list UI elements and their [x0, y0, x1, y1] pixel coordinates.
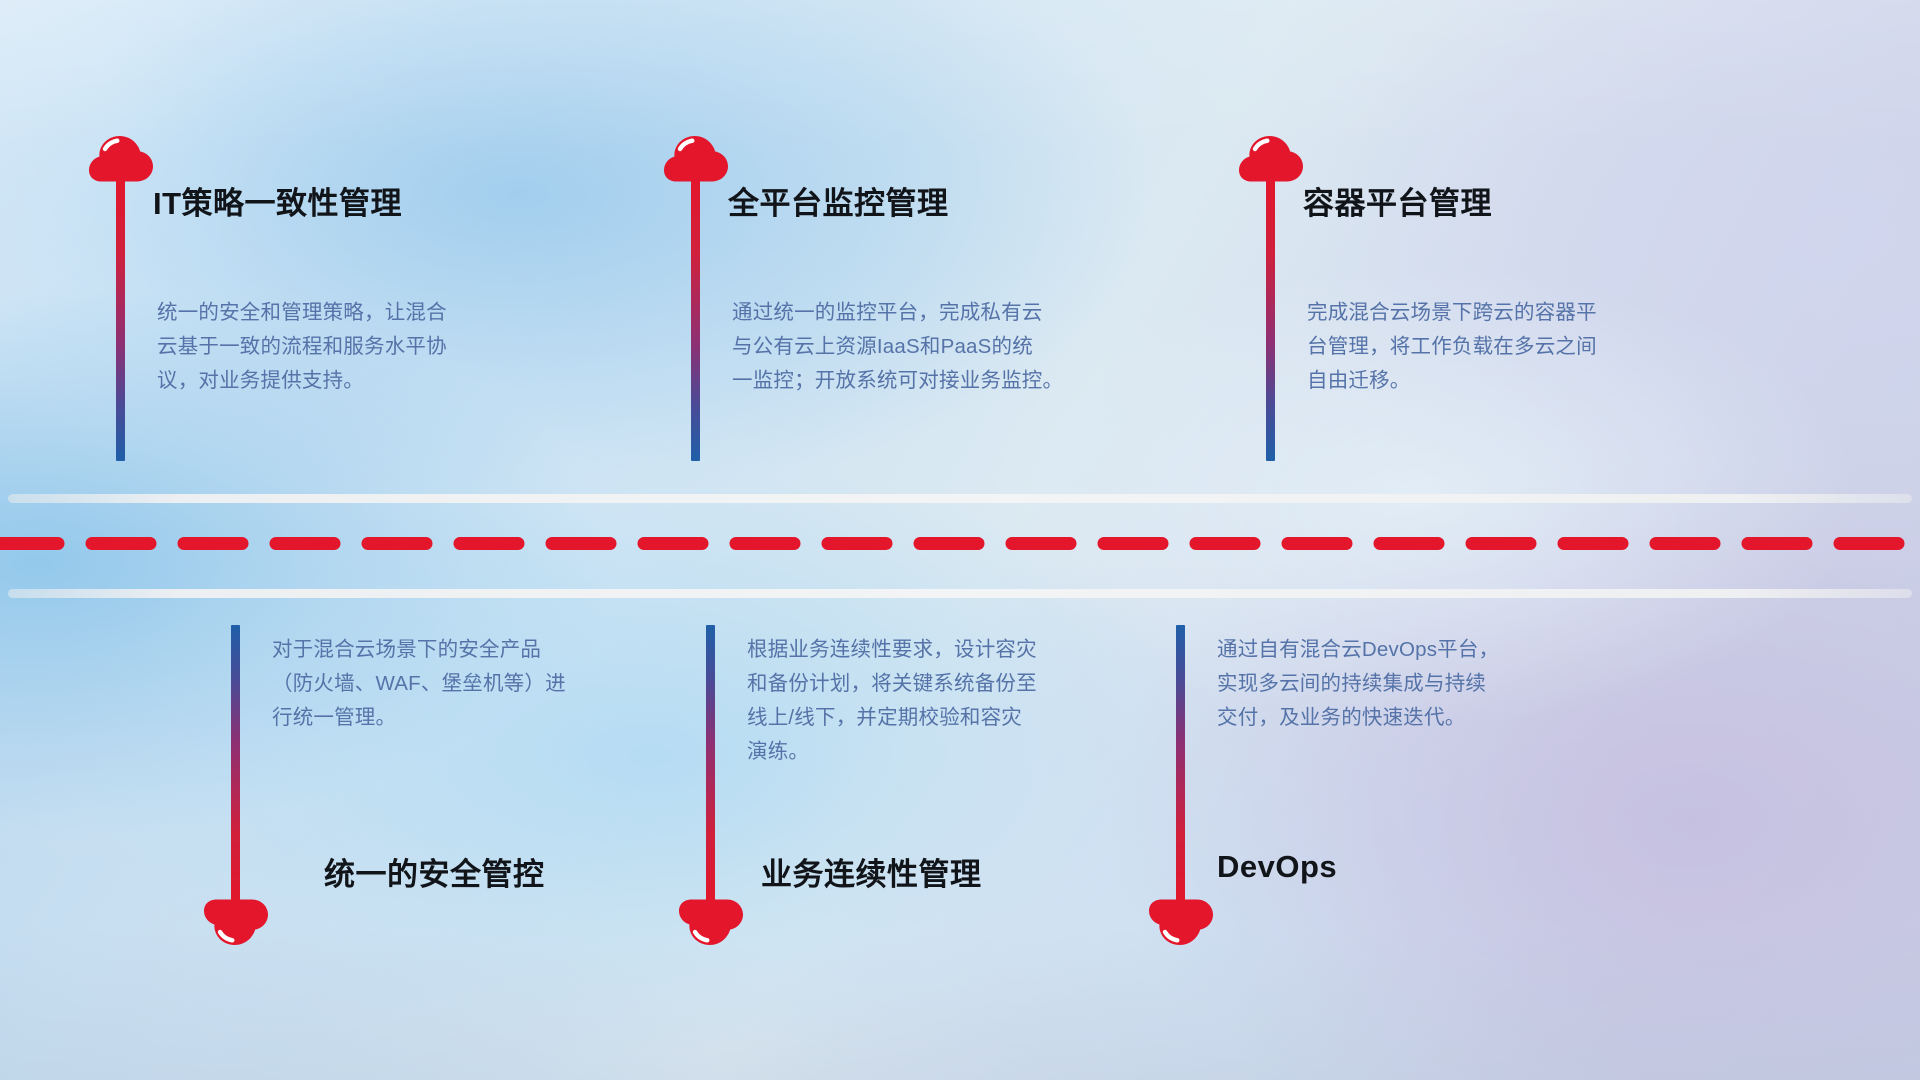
card-unified-security-control[interactable]: 对于混合云场景下的安全产品 （防火墙、WAF、堡垒机等）进 行统一管理。 统一的…: [200, 625, 670, 975]
card-title: 业务连续性管理: [761, 849, 982, 894]
lower-rail: [8, 589, 1912, 598]
body-line: 台管理，将工作负载在多云之间: [1307, 330, 1679, 364]
card-title: DevOps: [1217, 849, 1337, 885]
card-body: 根据业务连续性要求，设计容灾 和备份计划，将关键系统备份至 线上/线下，并定期校…: [747, 633, 1119, 769]
body-line: 行统一管理。: [272, 701, 644, 735]
marker-bottom-3: [1145, 625, 1225, 975]
body-line: 统一的安全和管理策略，让混合: [157, 296, 529, 330]
marker-bottom-1: [200, 625, 280, 975]
card-body: 通过统一的监控平台，完成私有云 与公有云上资源IaaS和PaaS的统 一监控；开…: [732, 296, 1124, 398]
body-line: 对于混合云场景下的安全产品: [272, 633, 644, 667]
body-line: 一监控；开放系统可对接业务监控。: [732, 364, 1124, 398]
body-line: 自由迁移。: [1307, 364, 1679, 398]
center-divider: [0, 482, 1920, 602]
body-line: 和备份计划，将关键系统备份至: [747, 667, 1119, 701]
marker-bottom-2: [675, 625, 755, 975]
body-line: （防火墙、WAF、堡垒机等）进: [272, 667, 644, 701]
card-title: 统一的安全管控: [324, 849, 545, 894]
timeline-stem: [691, 180, 700, 461]
cloud-icon: [1235, 130, 1307, 184]
timeline-stem: [1266, 180, 1275, 461]
body-line: 实现多云间的持续集成与持续: [1217, 667, 1589, 701]
cloud-icon: [675, 897, 747, 951]
card-body: 完成混合云场景下跨云的容器平 台管理，将工作负载在多云之间 自由迁移。: [1307, 296, 1679, 398]
red-dashed-center-line: [0, 537, 1920, 550]
timeline-stem: [706, 625, 715, 906]
card-full-platform-monitoring[interactable]: 全平台监控管理 通过统一的监控平台，完成私有云 与公有云上资源IaaS和PaaS…: [660, 130, 1130, 470]
body-line: 议，对业务提供支持。: [157, 364, 529, 398]
card-container-platform[interactable]: 容器平台管理 完成混合云场景下跨云的容器平 台管理，将工作负载在多云之间 自由迁…: [1235, 130, 1705, 470]
card-body: 对于混合云场景下的安全产品 （防火墙、WAF、堡垒机等）进 行统一管理。: [272, 633, 644, 735]
upper-rail: [8, 494, 1912, 503]
card-title: 容器平台管理: [1303, 178, 1492, 223]
timeline-stem: [231, 625, 240, 906]
body-line: 完成混合云场景下跨云的容器平: [1307, 296, 1679, 330]
card-body: 通过自有混合云DevOps平台， 实现多云间的持续集成与持续 交付，及业务的快速…: [1217, 633, 1589, 735]
cloud-icon: [200, 897, 272, 951]
cloud-icon: [85, 130, 157, 184]
timeline-stem: [116, 180, 125, 461]
infographic-canvas: IT策略一致性管理 统一的安全和管理策略，让混合 云基于一致的流程和服务水平协 …: [0, 0, 1920, 1080]
timeline-stem: [1176, 625, 1185, 906]
body-line: 与公有云上资源IaaS和PaaS的统: [732, 330, 1124, 364]
body-line: 线上/线下，并定期校验和容灾: [747, 701, 1119, 735]
cloud-icon: [660, 130, 732, 184]
card-devops[interactable]: 通过自有混合云DevOps平台， 实现多云间的持续集成与持续 交付，及业务的快速…: [1145, 625, 1615, 975]
body-line: 演练。: [747, 735, 1119, 769]
body-line: 通过自有混合云DevOps平台，: [1217, 633, 1589, 667]
card-body: 统一的安全和管理策略，让混合 云基于一致的流程和服务水平协 议，对业务提供支持。: [157, 296, 529, 398]
cloud-icon: [1145, 897, 1217, 951]
card-title: 全平台监控管理: [728, 178, 949, 223]
card-title: IT策略一致性管理: [153, 178, 402, 223]
body-line: 云基于一致的流程和服务水平协: [157, 330, 529, 364]
body-line: 交付，及业务的快速迭代。: [1217, 701, 1589, 735]
body-line: 通过统一的监控平台，完成私有云: [732, 296, 1124, 330]
body-line: 根据业务连续性要求，设计容灾: [747, 633, 1119, 667]
card-business-continuity[interactable]: 根据业务连续性要求，设计容灾 和备份计划，将关键系统备份至 线上/线下，并定期校…: [675, 625, 1145, 975]
card-it-policy-consistency[interactable]: IT策略一致性管理 统一的安全和管理策略，让混合 云基于一致的流程和服务水平协 …: [85, 130, 555, 470]
